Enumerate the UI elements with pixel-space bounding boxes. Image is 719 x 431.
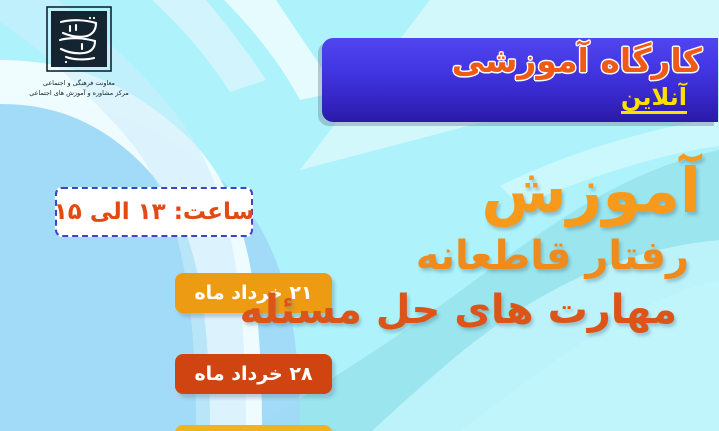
main-title: آموزش — [281, 160, 711, 222]
topic-title: مهارت های حل مسئله — [281, 290, 711, 330]
header-banner: کارگاه آموزشی آنلاین — [322, 38, 718, 122]
time-box: ساعت: ۱۳ الی ۱۵ — [55, 187, 253, 237]
header-title-row: کارگاه آموزشی — [452, 44, 702, 77]
date-badge-label: ۲۸ خرداد ماه — [194, 365, 312, 384]
logo-subtitle-line-2: مرکز مشاوره و آموزش های اجتماعی — [14, 89, 144, 99]
time-label: ساعت: ۱۳ الی ۱۵ — [54, 199, 255, 225]
header-online-label: آنلاین — [621, 84, 687, 114]
titles-block: آموزش رفتار قاطعانه مهارت های حل مسئله — [281, 160, 711, 342]
university-logo-block: معاونت فرهنگی و اجتماعی مرکز مشاوره و آم… — [14, 6, 144, 99]
date-badge — [175, 425, 332, 431]
logo-subtitle-line-1: معاونت فرهنگی و اجتماعی — [14, 79, 144, 89]
workshop-poster: معاونت فرهنگی و اجتماعی مرکز مشاوره و آم… — [0, 0, 719, 431]
header-online-wrap: آنلاین — [621, 84, 687, 114]
header-title: کارگاه آموزشی — [452, 44, 702, 77]
date-badge: ۲۸ خرداد ماه — [175, 354, 332, 394]
university-seal-icon — [46, 6, 112, 72]
topic-title: رفتار قاطعانه — [281, 236, 711, 276]
